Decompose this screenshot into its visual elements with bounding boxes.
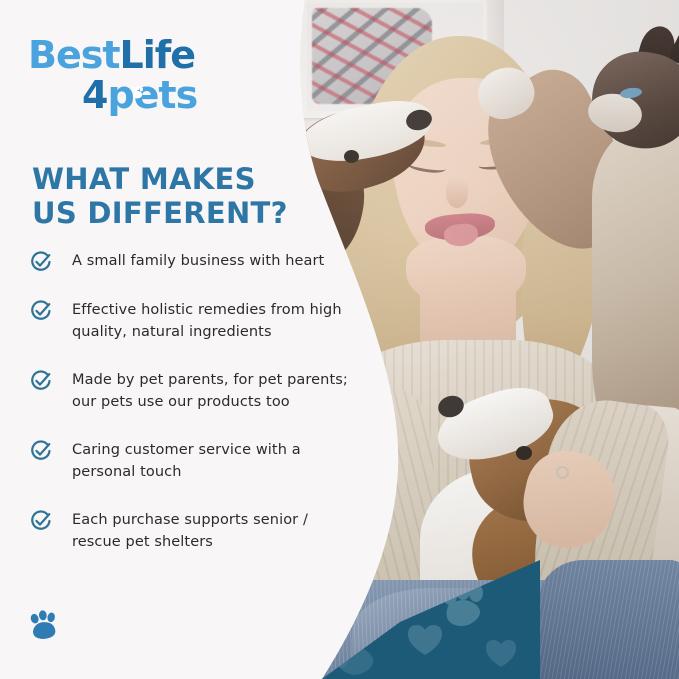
brand-logo[interactable]: BestLife 4pets [28, 36, 278, 114]
logo-word-best: Best [28, 33, 120, 77]
list-item-line-1: A small family business with heart [72, 253, 324, 269]
list-item-text: Effective holistic remedies from high qu… [72, 299, 342, 343]
woman-nose [446, 178, 468, 208]
list-item: Made by pet parents, for pet parents; ou… [30, 369, 350, 413]
list-item-line-1: Each purchase supports senior / [72, 512, 308, 528]
paw-print-icon [129, 84, 146, 101]
list-item-line-1: Made by pet parents, for pet parents; [72, 372, 348, 388]
check-circle-icon [30, 440, 52, 462]
logo-word-life: Life [120, 33, 196, 77]
paw-print-icon [24, 604, 64, 646]
headline-line-2: US DIFFERENT? [32, 196, 322, 230]
promo-image: BestLife 4pets WHAT MAKES US DIFFERENT? [0, 0, 679, 679]
list-item-line-2: rescue pet shelters [72, 531, 308, 553]
list-item-line-2: quality, natural ingredients [72, 321, 342, 343]
list-item-text: Each purchase supports senior / rescue p… [72, 509, 308, 553]
list-item: Caring customer service with a personal … [30, 439, 350, 483]
dog-left-eye [344, 150, 359, 163]
check-circle-icon [30, 370, 52, 392]
list-item-line-1: Caring customer service with a [72, 442, 301, 458]
list-item-text: A small family business with heart [72, 250, 324, 272]
check-circle-icon [30, 251, 52, 273]
list-item-text: Caring customer service with a personal … [72, 439, 301, 483]
list-item-line-2: personal touch [72, 461, 301, 483]
woman-jeans-knee [540, 560, 679, 679]
check-circle-icon [30, 300, 52, 322]
logo-word-four: 4 [82, 73, 107, 117]
list-item: A small family business with heart [30, 250, 350, 273]
list-item-line-2: our pets use our products too [72, 391, 348, 413]
logo-word-pets: pets [107, 73, 197, 117]
logo-line-2: 4pets [82, 76, 278, 114]
page-title: WHAT MAKES US DIFFERENT? [32, 162, 322, 230]
woman-ring [556, 466, 569, 479]
list-item: Effective holistic remedies from high qu… [30, 299, 350, 343]
check-circle-icon [30, 510, 52, 532]
dog-front-eye [516, 446, 532, 460]
list-item: Each purchase supports senior / rescue p… [30, 509, 350, 553]
content-panel: BestLife 4pets WHAT MAKES US DIFFERENT? [0, 0, 330, 679]
list-item-text: Made by pet parents, for pet parents; ou… [72, 369, 348, 413]
headline-line-1: WHAT MAKES [32, 162, 322, 196]
logo-line-1: BestLife [28, 36, 278, 74]
list-item-line-1: Effective holistic remedies from high [72, 302, 342, 318]
benefits-list: A small family business with heart Effec… [30, 250, 350, 579]
